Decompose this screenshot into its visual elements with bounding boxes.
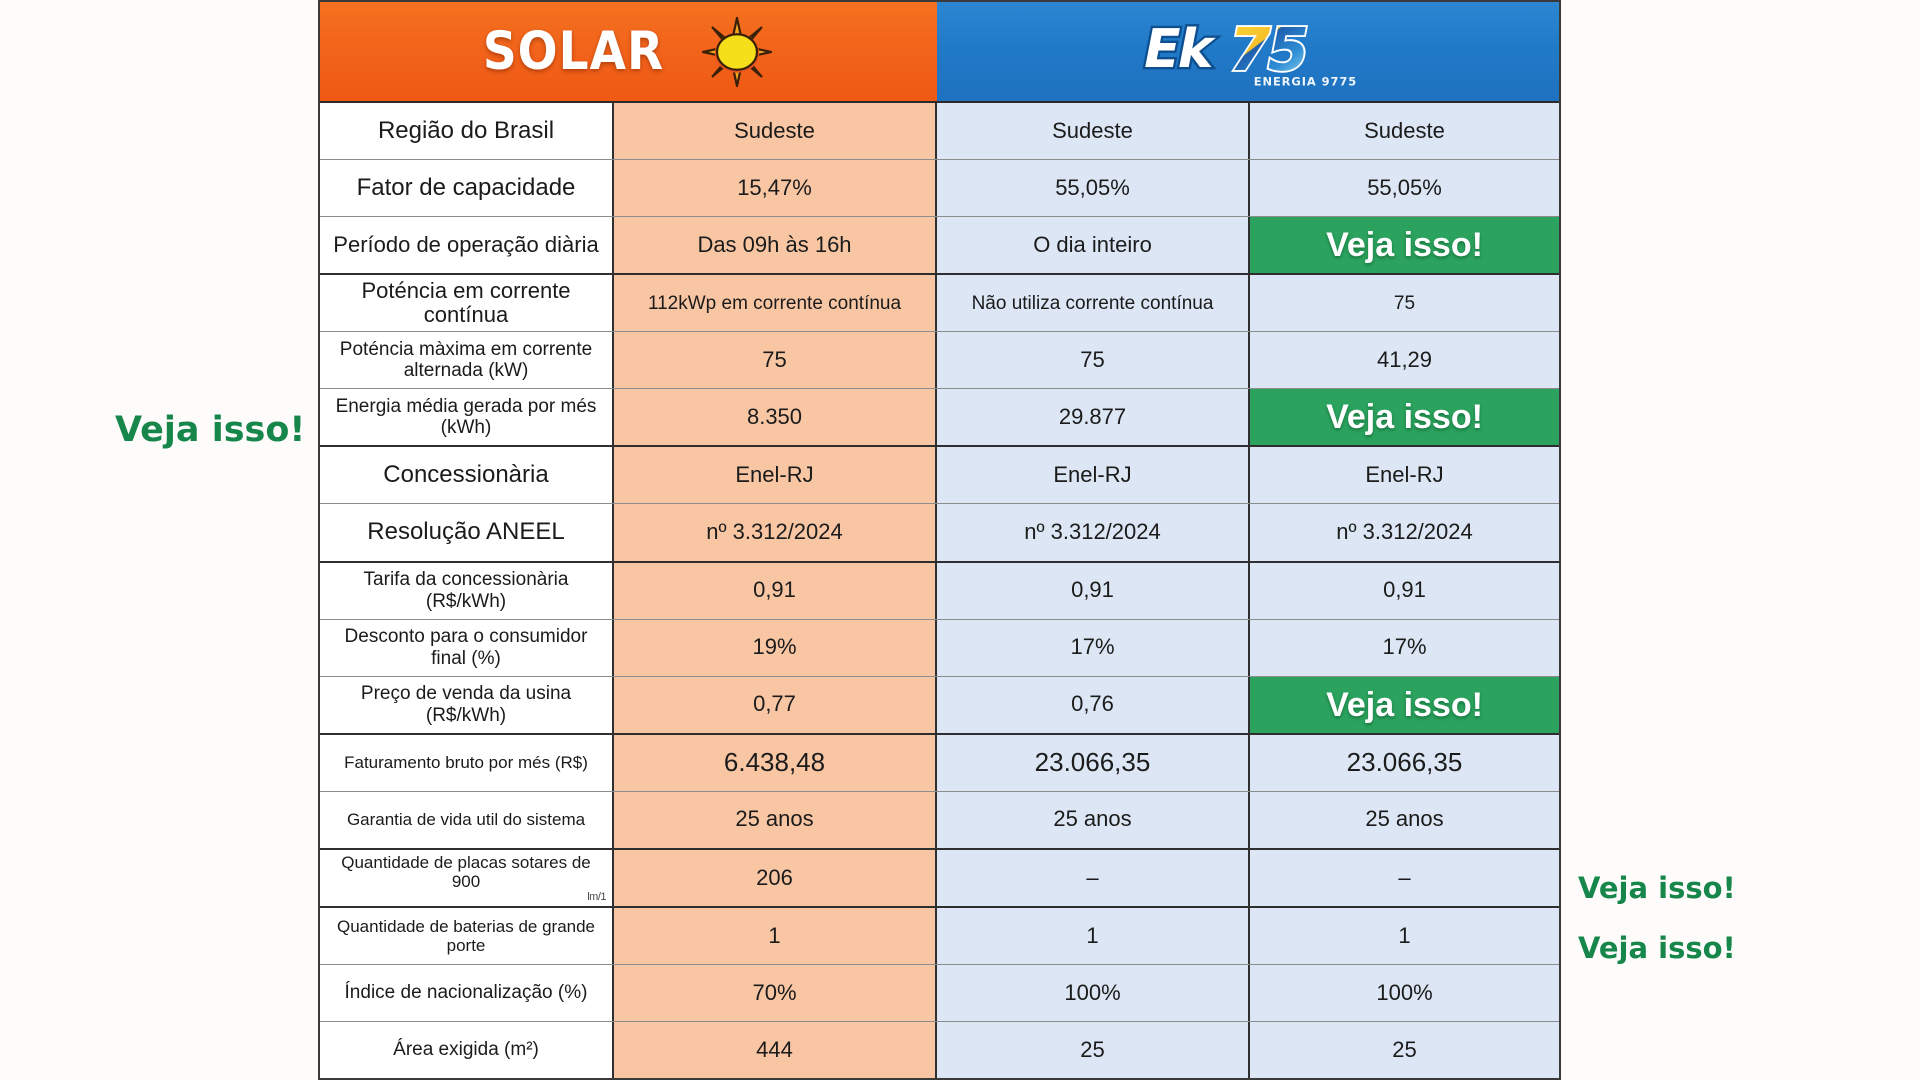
ek75-tagline: ENERGIA 9775 xyxy=(1254,74,1357,88)
cell-ek75-2: 25 xyxy=(1250,1022,1559,1078)
cell-solar: 0,77 xyxy=(614,677,937,733)
row-label: Tarifa da concessionària (R$/kWh) xyxy=(320,563,614,619)
annotation-veja-isso-right-1: Veja isso! xyxy=(1578,871,1736,905)
cell-ek75-1: 25 anos xyxy=(937,792,1250,848)
cell-ek75-1: O dia inteiro xyxy=(937,217,1250,273)
cell-solar: 1 xyxy=(614,908,937,964)
cell-solar: 6.438,48 xyxy=(614,735,937,791)
svg-text:Ek: Ek xyxy=(1138,17,1221,79)
highlight-cell: Veja isso! xyxy=(1250,389,1559,445)
table-row: Fator de capacidade15,47%55,05%55,05% xyxy=(320,160,1559,217)
cell-ek75-1: nº 3.312/2024 xyxy=(937,504,1250,560)
table-row: Energia média gerada por més (kWh)8.3502… xyxy=(320,389,1559,447)
highlight-cell: Veja isso! xyxy=(1250,217,1559,273)
cell-solar: Sudeste xyxy=(614,103,937,159)
cell-ek75-1: Não utiliza corrente contínua xyxy=(937,275,1250,331)
row-label: Quantidade de placas sotares de 900lm/1 xyxy=(320,850,614,906)
cell-ek75-2: nº 3.312/2024 xyxy=(1250,504,1559,560)
row-label: Região do Brasil xyxy=(320,103,614,159)
row-label: Fator de capacidade xyxy=(320,160,614,216)
row-label: Faturamento bruto por més (R$) xyxy=(320,735,614,791)
cell-ek75-2: 25 anos xyxy=(1250,792,1559,848)
cell-solar: 25 anos xyxy=(614,792,937,848)
cell-ek75-1: Sudeste xyxy=(937,103,1250,159)
row-label-text: Quantidade de placas sotares de 900 xyxy=(341,853,591,891)
cell-ek75-1: 23.066,35 xyxy=(937,735,1250,791)
cell-ek75-1: 29.877 xyxy=(937,389,1250,445)
annotation-veja-isso-right-2: Veja isso! xyxy=(1578,931,1736,965)
cell-solar: 70% xyxy=(614,965,937,1021)
cell-ek75-1: 75 xyxy=(937,332,1250,388)
row-label: Área exigida (m²) xyxy=(320,1022,614,1078)
row-label: Quantidade de baterias de grande porte xyxy=(320,908,614,964)
cell-ek75-2: 75 xyxy=(1250,275,1559,331)
table-row: Preço de venda da usina (R$/kWh)0,770,76… xyxy=(320,677,1559,735)
cell-ek75-2: 23.066,35 xyxy=(1250,735,1559,791)
header-solar-title: SOLAR xyxy=(483,21,664,83)
cell-ek75-2: 1 xyxy=(1250,908,1559,964)
cell-ek75-2: 17% xyxy=(1250,620,1559,676)
table-row: Faturamento bruto por més (R$)6.438,4823… xyxy=(320,735,1559,792)
row-label: Concessionària xyxy=(320,447,614,503)
cell-ek75-1: 17% xyxy=(937,620,1250,676)
table-body: Região do BrasilSudesteSudesteSudesteFat… xyxy=(320,103,1559,1078)
table-row: Desconto para o consumidor final (%)19%1… xyxy=(320,620,1559,677)
row-label-subfragment: lm/1 xyxy=(326,891,606,903)
row-label: Período de operação diària xyxy=(320,217,614,273)
table-row: Garantia de vida util do sistema25 anos2… xyxy=(320,792,1559,850)
table-row: Poténcia em corrente contínua112kWp em c… xyxy=(320,275,1559,332)
table-row: Região do BrasilSudesteSudesteSudeste xyxy=(320,103,1559,160)
row-label: Poténcia em corrente contínua xyxy=(320,275,614,331)
comparison-table: SOLAR xyxy=(318,0,1561,1080)
table-row: ConcessionàriaEnel-RJEnel-RJEnel-RJ xyxy=(320,447,1559,504)
sun-icon xyxy=(700,15,774,89)
row-label: Índice de nacionalização (%) xyxy=(320,965,614,1021)
header-ek75: Ek 75 ENERGIA 9775 xyxy=(937,2,1559,101)
cell-ek75-1: 100% xyxy=(937,965,1250,1021)
cell-ek75-2: 100% xyxy=(1250,965,1559,1021)
row-label: Preço de venda da usina (R$/kWh) xyxy=(320,677,614,733)
cell-ek75-1: 0,76 xyxy=(937,677,1250,733)
table-header-row: SOLAR xyxy=(320,2,1559,103)
cell-solar: 75 xyxy=(614,332,937,388)
cell-solar: nº 3.312/2024 xyxy=(614,504,937,560)
row-label: Energia média gerada por més (kWh) xyxy=(320,389,614,445)
cell-solar: 15,47% xyxy=(614,160,937,216)
cell-solar: 8.350 xyxy=(614,389,937,445)
annotation-veja-isso-left: Veja isso! xyxy=(115,410,305,450)
cell-solar: 112kWp em corrente contínua xyxy=(614,275,937,331)
row-label: Desconto para o consumidor final (%) xyxy=(320,620,614,676)
table-row: Tarifa da concessionària (R$/kWh)0,910,9… xyxy=(320,563,1559,620)
cell-solar: Enel-RJ xyxy=(614,447,937,503)
row-label: Poténcia màxima em corrente alternada (k… xyxy=(320,332,614,388)
cell-ek75-1: 25 xyxy=(937,1022,1250,1078)
table-row: Resolução ANEELnº 3.312/2024nº 3.312/202… xyxy=(320,504,1559,562)
cell-solar: Das 09h às 16h xyxy=(614,217,937,273)
table-row: Índice de nacionalização (%)70%100%100% xyxy=(320,965,1559,1022)
cell-ek75-1: 1 xyxy=(937,908,1250,964)
cell-ek75-1: 0,91 xyxy=(937,563,1250,619)
table-row: Quantidade de baterias de grande porte11… xyxy=(320,908,1559,965)
table-row: Poténcia màxima em corrente alternada (k… xyxy=(320,332,1559,389)
cell-solar: 0,91 xyxy=(614,563,937,619)
table-row: Período de operação diàriaDas 09h às 16h… xyxy=(320,217,1559,275)
cell-solar: 206 xyxy=(614,850,937,906)
table-row: Área exigida (m²)4442525 xyxy=(320,1022,1559,1078)
cell-ek75-2: Sudeste xyxy=(1250,103,1559,159)
header-solar: SOLAR xyxy=(320,2,937,101)
cell-ek75-1: – xyxy=(937,850,1250,906)
highlight-cell: Veja isso! xyxy=(1250,677,1559,733)
cell-ek75-1: Enel-RJ xyxy=(937,447,1250,503)
cell-ek75-2: 41,29 xyxy=(1250,332,1559,388)
cell-ek75-2: 0,91 xyxy=(1250,563,1559,619)
ek75-logo: Ek 75 ENERGIA 9775 xyxy=(1123,13,1373,91)
cell-ek75-2: Enel-RJ xyxy=(1250,447,1559,503)
cell-ek75-2: – xyxy=(1250,850,1559,906)
cell-solar: 444 xyxy=(614,1022,937,1078)
row-label: Resolução ANEEL xyxy=(320,504,614,560)
cell-solar: 19% xyxy=(614,620,937,676)
cell-ek75-2: 55,05% xyxy=(1250,160,1559,216)
table-row: Quantidade de placas sotares de 900lm/12… xyxy=(320,850,1559,908)
cell-ek75-1: 55,05% xyxy=(937,160,1250,216)
row-label: Garantia de vida util do sistema xyxy=(320,792,614,848)
